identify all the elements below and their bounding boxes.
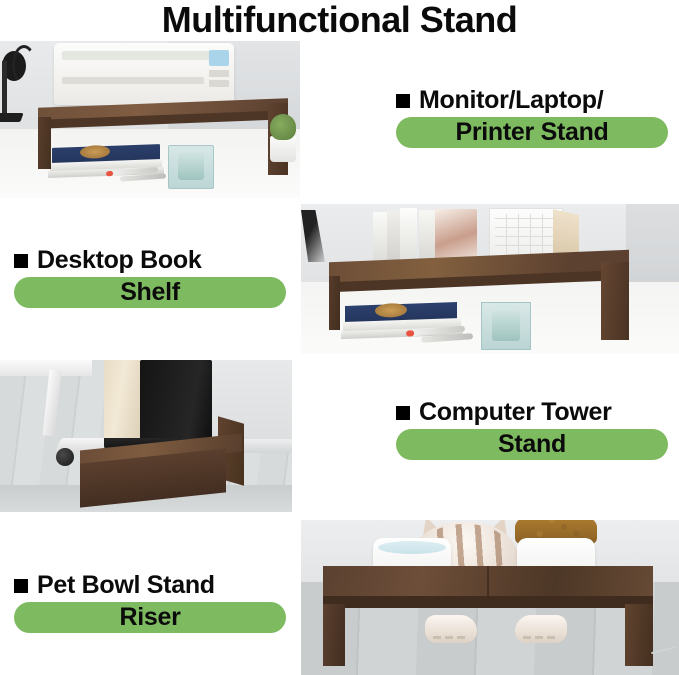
computer-tower [140,360,212,450]
feature-pill-label: Riser [119,605,180,630]
feature-caption-pet-bowl-stand: Pet Bowl Stand Riser [14,573,286,633]
feature-pill-label: Shelf [120,280,180,305]
black-square-bullet-icon [396,94,410,108]
printer-on-stand-photo [0,41,300,198]
box-contents [178,153,204,180]
headphone-stand-base [0,113,24,122]
desk-edge [0,360,92,376]
book-shelf-scene [301,204,679,354]
standing-book [373,212,387,262]
standing-book [419,210,435,262]
caption-heading-row: Pet Bowl Stand [14,573,286,598]
printer [54,43,234,105]
storage-box [481,302,531,350]
book-cover-circle [80,145,110,159]
feature-pill-badge: Stand [396,429,668,460]
book-cover-circle [375,303,407,318]
box-contents [492,311,520,341]
stand-left-leg [38,117,51,169]
plant-leaves-icon [270,114,296,140]
caster-wheel-icon [56,448,74,466]
printer-paper-slot [62,77,204,84]
feature-caption-computer-tower-stand: Computer Tower Stand [396,400,668,460]
shelf-left-leg [329,276,340,330]
cat-paw [515,615,567,643]
storage-box [168,145,214,189]
standing-book [400,208,417,262]
headphone-band-icon [12,45,36,85]
feature-caption-printer-stand: Monitor/Laptop/ Printer Stand [396,88,668,148]
black-square-bullet-icon [14,254,28,268]
page-title: Multifunctional Stand [0,0,679,40]
printer-lid [62,51,212,60]
calendar-grid [495,214,557,254]
pet-bowl-stand-photo [301,520,679,675]
printer-button [209,80,229,87]
riser-top-seam [487,566,489,598]
feature-pill-badge: Shelf [14,277,286,308]
headphone-stand [2,61,7,116]
black-square-bullet-icon [14,579,28,593]
riser-right-leg [625,604,653,666]
feature-pill-label: Printer Stand [455,120,608,145]
printer-control-panel [209,50,229,66]
feature-title: Monitor/Laptop/ [419,88,603,113]
caption-heading-row: Computer Tower [396,400,668,425]
feature-pill-label: Stand [498,432,566,457]
black-square-bullet-icon [396,406,410,420]
cat-paw [425,615,477,643]
standing-book [387,210,400,262]
caption-heading-row: Monitor/Laptop/ [396,88,668,113]
printer-scene [0,41,300,198]
printer-button [209,70,229,77]
feature-title: Pet Bowl Stand [37,573,215,598]
feature-title: Computer Tower [419,400,612,425]
water-surface [378,541,446,554]
feature-pill-badge: Riser [14,602,286,633]
computer-tower-photo [0,360,292,512]
riser-front-edge [323,596,653,608]
pet-bowl-scene [301,520,679,675]
feature-title: Desktop Book [37,248,201,273]
riser-left-leg [323,604,345,666]
feature-caption-desktop-book-shelf: Desktop Book Shelf [14,248,286,308]
caption-heading-row: Desktop Book [14,248,286,273]
computer-tower-scene [0,360,292,512]
feature-pill-badge: Printer Stand [396,117,668,148]
computer-tower-side [104,360,144,444]
book-shelf-photo [301,204,679,354]
shelf-right-leg [601,262,629,340]
magazine [435,209,477,262]
